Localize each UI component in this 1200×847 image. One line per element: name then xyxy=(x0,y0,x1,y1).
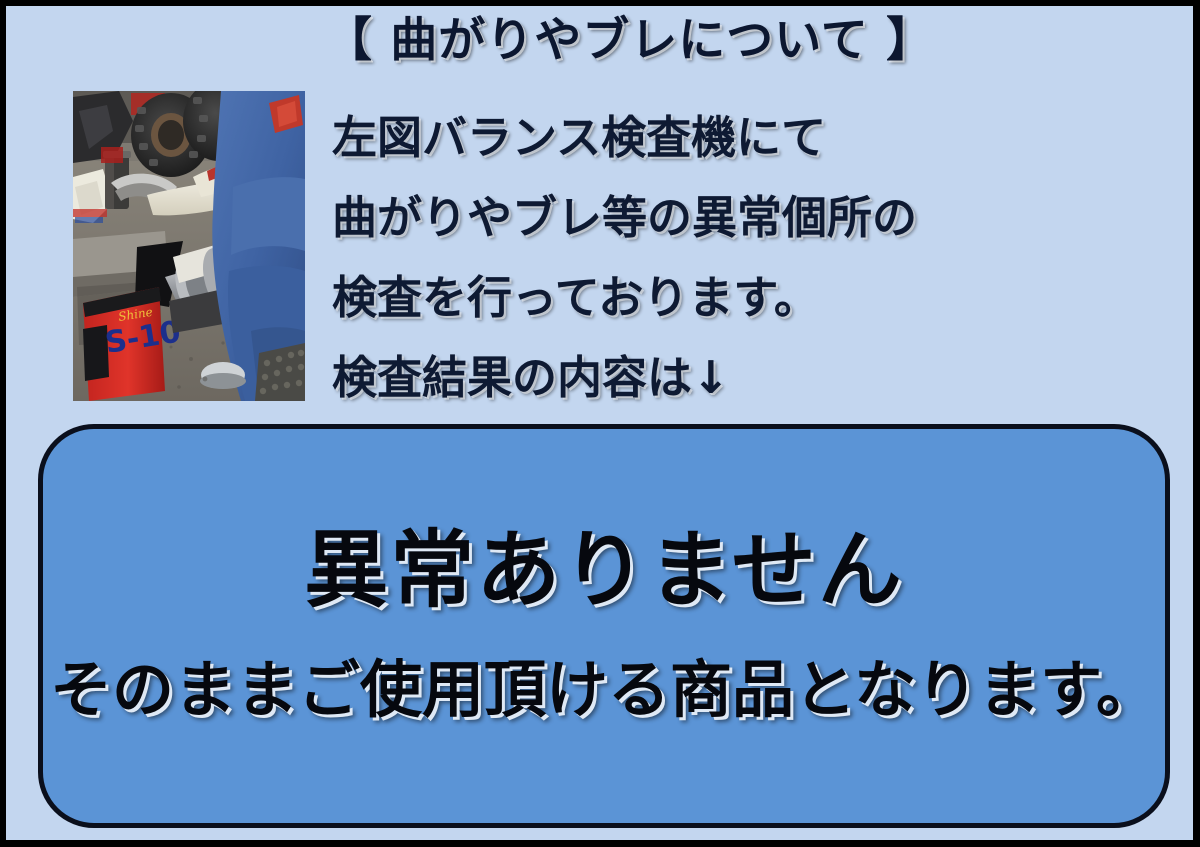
inspection-result-subline: そのままご使用頂ける商品となります。 xyxy=(50,656,1158,724)
body-line-1: 左図バランス検査機にて xyxy=(332,98,1162,178)
body-line-3: 検査を行っております。 xyxy=(332,258,1162,338)
inspection-result-headline: 異常ありません xyxy=(304,524,903,616)
inspection-result-box: 異常ありません そのままご使用頂ける商品となります。 xyxy=(38,424,1170,828)
page-title: 【 曲がりやブレについて 】 xyxy=(6,14,1193,68)
body-line-2: 曲がりやブレ等の異常個所の xyxy=(332,178,1162,258)
photo-artwork: Shine S-10 xyxy=(73,91,305,401)
card-canvas: 【 曲がりやブレについて 】 xyxy=(6,6,1193,840)
body-line-4: 検査結果の内容は↓ xyxy=(332,338,1162,418)
image-frame: 【 曲がりやブレについて 】 xyxy=(0,0,1200,847)
balance-inspection-machine-photo: Shine S-10 xyxy=(73,91,305,401)
body-copy: 左図バランス検査機にて 曲がりやブレ等の異常個所の 検査を行っております。 検査… xyxy=(332,98,1162,418)
page-title-text: 【 曲がりやブレについて 】 xyxy=(325,14,934,68)
